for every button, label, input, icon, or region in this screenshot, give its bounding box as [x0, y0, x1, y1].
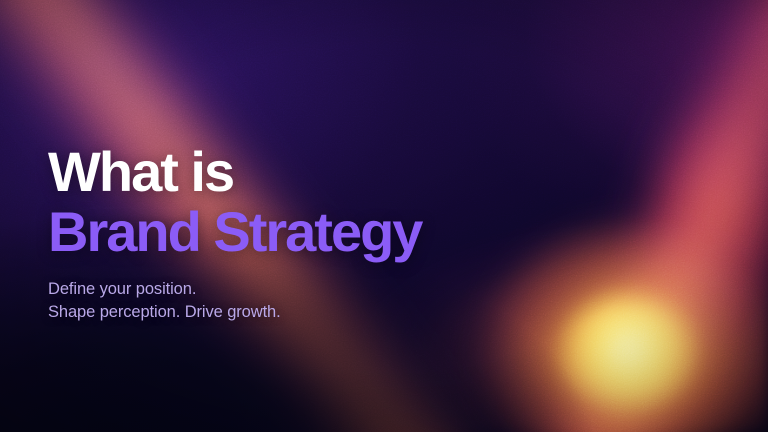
title-text-block: What is Brand Strategy Define your posit… [48, 142, 568, 324]
subtitle: Define your position. Shape perception. … [48, 278, 568, 324]
subtitle-line-2: Shape perception. Drive growth. [48, 301, 568, 324]
page-title-line-1: What is [48, 142, 568, 202]
subtitle-line-1: Define your position. [48, 278, 568, 301]
light-streak-yellow-core [562, 297, 694, 407]
hero-slide: What is Brand Strategy Define your posit… [0, 0, 768, 432]
page-title-line-2: Brand Strategy [48, 202, 568, 262]
